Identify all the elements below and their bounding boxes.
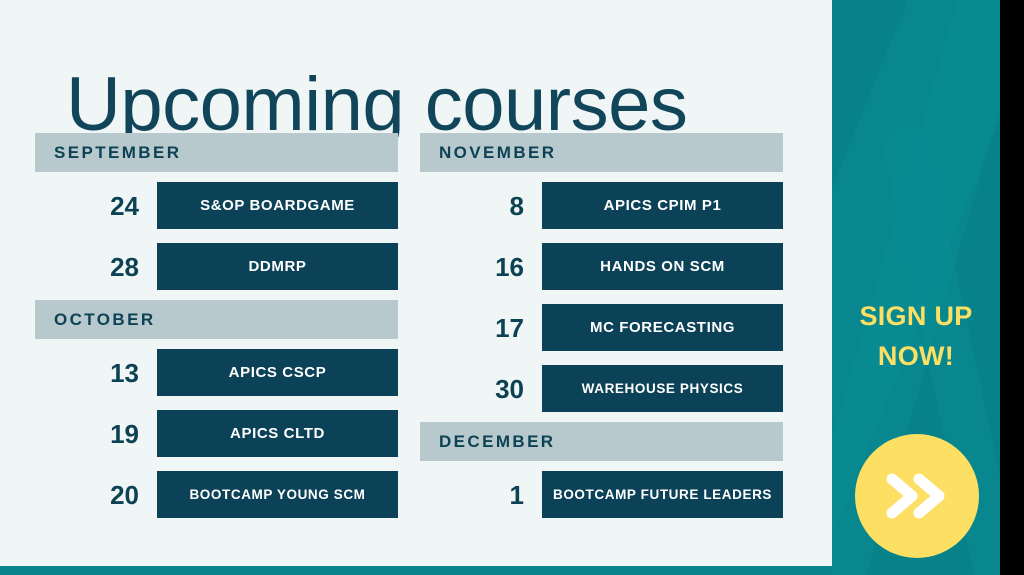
course-pill[interactable]: APICS CPIM P1 — [542, 182, 783, 229]
course-pill[interactable]: BOOTCAMP YOUNG SCM — [157, 471, 398, 518]
month-block: SEPTEMBER24S&OP BOARDGAME28DDMRP — [35, 133, 398, 294]
month-header-december: DECEMBER — [420, 422, 783, 461]
cta-line-2: NOW! — [832, 336, 1000, 376]
sign-up-cta[interactable]: SIGN UP NOW! — [832, 296, 1000, 376]
month-header-november: NOVEMBER — [420, 133, 783, 172]
course-row[interactable]: 20BOOTCAMP YOUNG SCM — [35, 467, 398, 522]
course-pill[interactable]: WAREHOUSE PHYSICS — [542, 365, 783, 412]
course-row[interactable]: 17MC FORECASTING — [420, 300, 783, 355]
course-row[interactable]: 16HANDS ON SCM — [420, 239, 783, 294]
course-pill[interactable]: BOOTCAMP FUTURE LEADERS — [542, 471, 783, 518]
right-column: NOVEMBER8APICS CPIM P116HANDS ON SCM17MC… — [420, 133, 783, 528]
course-row[interactable]: 8APICS CPIM P1 — [420, 178, 783, 233]
month-label: DECEMBER — [420, 432, 556, 452]
course-pill[interactable]: HANDS ON SCM — [542, 243, 783, 290]
course-row[interactable]: 30WAREHOUSE PHYSICS — [420, 361, 783, 416]
course-row[interactable]: 28DDMRP — [35, 239, 398, 294]
course-pill[interactable]: APICS CLTD — [157, 410, 398, 457]
course-pill[interactable]: MC FORECASTING — [542, 304, 783, 351]
double-chevron-right-icon[interactable] — [855, 434, 979, 558]
course-row[interactable]: 19APICS CLTD — [35, 406, 398, 461]
course-row[interactable]: 24S&OP BOARDGAME — [35, 178, 398, 233]
course-day: 13 — [35, 360, 157, 386]
course-day: 20 — [35, 482, 157, 508]
course-day: 1 — [420, 482, 542, 508]
right-black-strip — [1000, 0, 1024, 575]
month-block: NOVEMBER8APICS CPIM P116HANDS ON SCM17MC… — [420, 133, 783, 416]
course-day: 8 — [420, 193, 542, 219]
course-day: 30 — [420, 376, 542, 402]
cta-line-1: SIGN UP — [832, 296, 1000, 336]
course-day: 19 — [35, 421, 157, 447]
month-block: DECEMBER1BOOTCAMP FUTURE LEADERS — [420, 422, 783, 522]
month-header-september: SEPTEMBER — [35, 133, 398, 172]
course-day: 17 — [420, 315, 542, 341]
course-day: 24 — [35, 193, 157, 219]
course-day: 16 — [420, 254, 542, 280]
course-day: 28 — [35, 254, 157, 280]
course-row[interactable]: 13APICS CSCP — [35, 345, 398, 400]
month-label: OCTOBER — [35, 310, 156, 330]
month-block: OCTOBER13APICS CSCP19APICS CLTD20BOOTCAM… — [35, 300, 398, 522]
bottom-teal-band — [0, 566, 832, 575]
course-pill[interactable]: DDMRP — [157, 243, 398, 290]
poster: Upcoming courses SEPTEMBER24S&OP BOARDGA… — [0, 0, 1024, 575]
course-pill[interactable]: S&OP BOARDGAME — [157, 182, 398, 229]
month-label: SEPTEMBER — [35, 143, 181, 163]
left-column: SEPTEMBER24S&OP BOARDGAME28DDMRPOCTOBER1… — [35, 133, 398, 528]
course-pill[interactable]: APICS CSCP — [157, 349, 398, 396]
month-header-october: OCTOBER — [35, 300, 398, 339]
month-label: NOVEMBER — [420, 143, 556, 163]
course-row[interactable]: 1BOOTCAMP FUTURE LEADERS — [420, 467, 783, 522]
